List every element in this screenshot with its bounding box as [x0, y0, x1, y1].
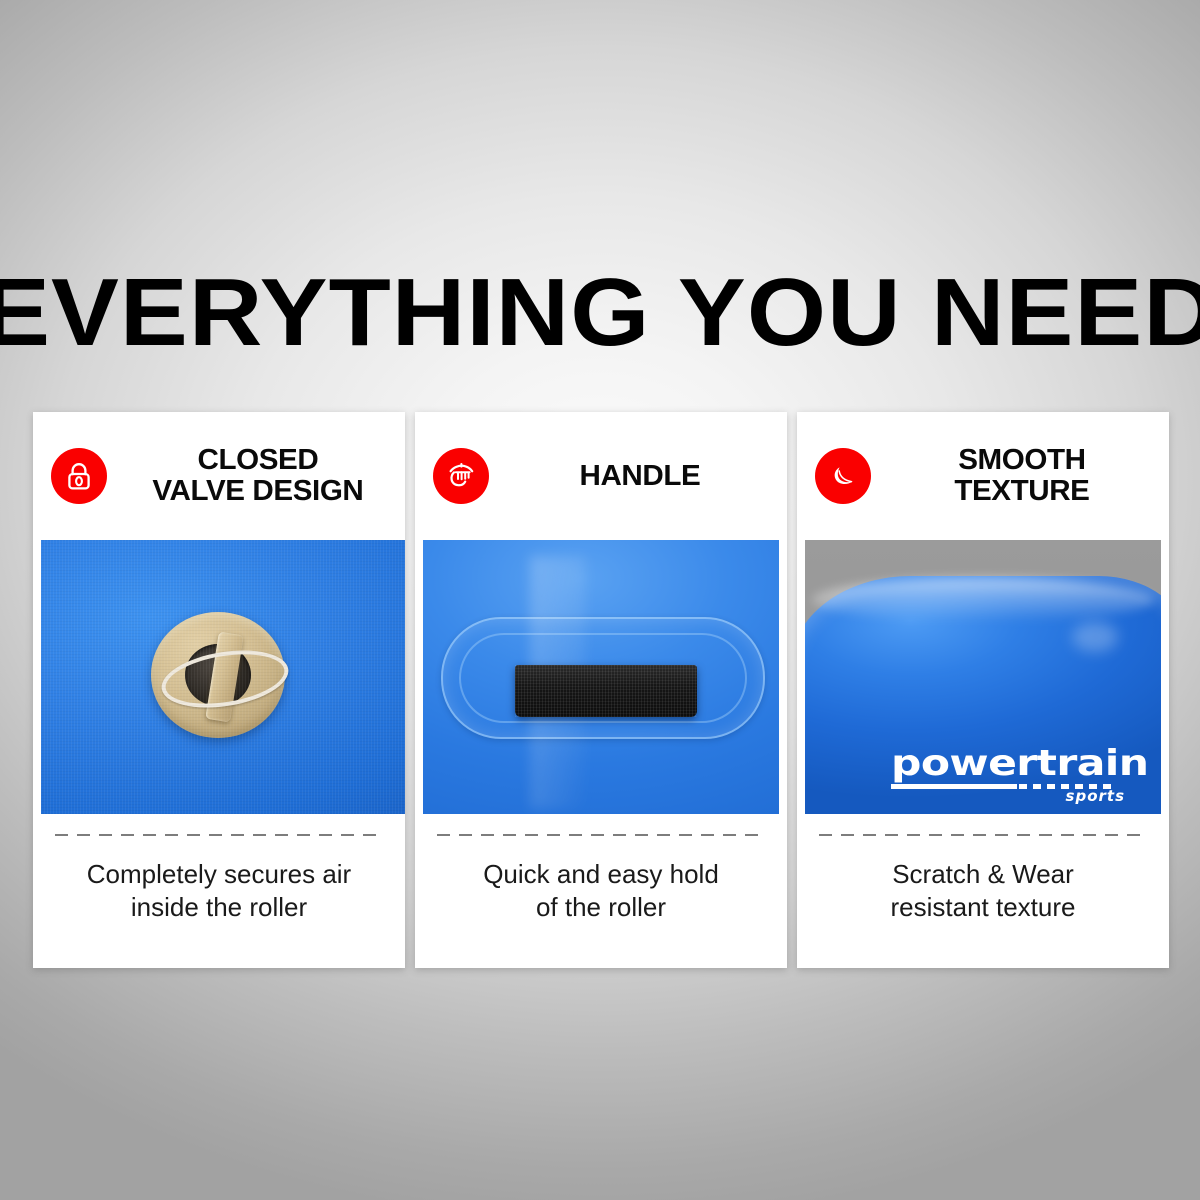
- roller-sheen: [812, 578, 1154, 622]
- dashed-divider: [437, 834, 765, 836]
- card-title-line-2: TEXTURE: [880, 476, 1164, 507]
- photo-frame: powertrain sports: [797, 540, 1169, 814]
- card-title: HANDLE: [498, 461, 787, 492]
- feature-card-smooth-texture[interactable]: SMOOTH TEXTURE powertrain sports: [797, 412, 1169, 968]
- card-title: SMOOTH TEXTURE: [880, 445, 1169, 507]
- padlock-icon: [51, 448, 107, 504]
- brand-sub-wordmark: sports: [1066, 787, 1125, 805]
- underline-solid: [891, 784, 1017, 789]
- brand-wordmark: powertrain: [891, 746, 1161, 782]
- card-title: CLOSED VALVE DESIGN: [116, 445, 405, 507]
- feature-card-handle[interactable]: HANDLE Quick and easy hold of the roller: [415, 412, 787, 968]
- infographic-canvas: EVERYTHING YOU NEED CLOSED VALVE DESIGN: [0, 0, 1200, 1200]
- caption-line-1: Quick and easy hold: [437, 858, 765, 891]
- card-title-line-1: CLOSED: [116, 445, 400, 476]
- caption-zone: Quick and easy hold of the roller: [415, 814, 787, 968]
- dashed-divider: [819, 834, 1147, 836]
- feature-card-row: CLOSED VALVE DESIGN Completely secures a…: [33, 412, 1169, 968]
- powertrain-logo: powertrain sports: [891, 746, 1123, 789]
- card-caption: Scratch & Wear resistant texture: [819, 858, 1147, 924]
- feather-icon: [815, 448, 871, 504]
- card-caption: Completely secures air inside the roller: [55, 858, 383, 924]
- photo-smooth-texture: powertrain sports: [805, 540, 1161, 814]
- dashed-divider: [55, 834, 383, 836]
- caption-zone: Completely secures air inside the roller: [33, 814, 405, 968]
- page-title: EVERYTHING YOU NEED: [0, 264, 1200, 362]
- card-header: HANDLE: [415, 412, 787, 540]
- caption-line-2: of the roller: [437, 891, 765, 924]
- caption-line-1: Scratch & Wear: [819, 858, 1147, 891]
- photo-frame: [415, 540, 787, 814]
- caption-line-2: inside the roller: [55, 891, 383, 924]
- card-title-line-2: VALVE DESIGN: [116, 476, 400, 507]
- card-title-line-1: SMOOTH: [880, 445, 1164, 476]
- caption-line-1: Completely secures air: [55, 858, 383, 891]
- caption-zone: Scratch & Wear resistant texture: [797, 814, 1169, 968]
- card-caption: Quick and easy hold of the roller: [437, 858, 765, 924]
- photo-frame: [33, 540, 405, 814]
- card-header: SMOOTH TEXTURE: [797, 412, 1169, 540]
- photo-handle: [423, 540, 779, 814]
- caption-line-2: resistant texture: [819, 891, 1147, 924]
- gripping-hand-icon: [433, 448, 489, 504]
- handle-strap: [515, 665, 697, 717]
- photo-closed-valve: [41, 540, 405, 814]
- card-header: CLOSED VALVE DESIGN: [33, 412, 405, 540]
- feature-card-closed-valve-design[interactable]: CLOSED VALVE DESIGN Completely secures a…: [33, 412, 405, 968]
- card-title-line-1: HANDLE: [498, 461, 782, 492]
